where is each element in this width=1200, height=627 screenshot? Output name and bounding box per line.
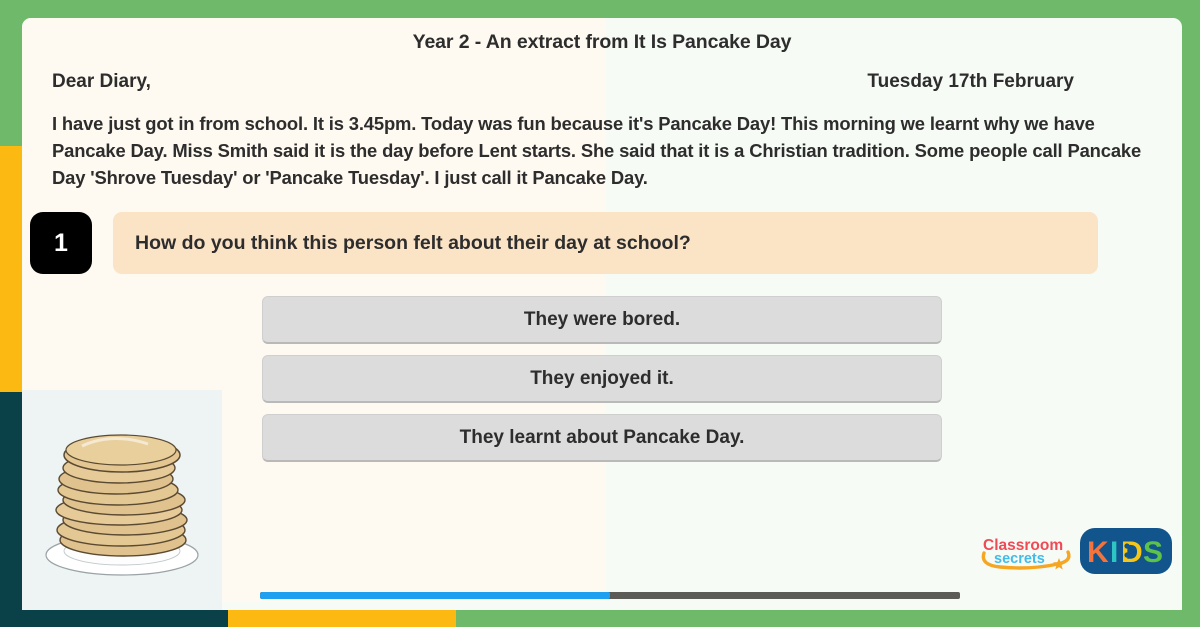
svg-text:K: K	[1087, 536, 1109, 569]
content-card: Year 2 - An extract from It Is Pancake D…	[22, 18, 1182, 610]
svg-text:secrets: secrets	[994, 551, 1045, 567]
lesson-slide: Year 2 - An extract from It Is Pancake D…	[0, 0, 1200, 627]
brand-logo: Classroom secrets K I D S	[976, 528, 1172, 574]
frame-edge-left-yellow	[0, 146, 22, 392]
svg-text:D: D	[1121, 536, 1143, 569]
answer-options-list: They were bored. They enjoyed it. They l…	[262, 296, 942, 462]
extract-body-text: I have just got in from school. It is 3.…	[22, 93, 1182, 191]
svg-text:I: I	[1110, 536, 1118, 569]
answer-option-1[interactable]: They were bored.	[262, 296, 942, 344]
svg-text:S: S	[1143, 536, 1163, 569]
frame-edge-left-green	[0, 0, 22, 146]
diary-salutation: Dear Diary,	[52, 71, 151, 93]
answer-option-3[interactable]: They learnt about Pancake Day.	[262, 414, 942, 462]
kids-logo-icon: K I D S	[1080, 528, 1172, 574]
progress-bar-track[interactable]	[260, 592, 960, 599]
answer-option-2[interactable]: They enjoyed it.	[262, 355, 942, 403]
frame-edge-left-teal	[0, 392, 22, 627]
diary-date: Tuesday 17th February	[867, 71, 1152, 93]
question-text: How do you think this person felt about …	[113, 212, 1098, 274]
diary-heading-row: Dear Diary, Tuesday 17th February	[22, 54, 1182, 93]
question-number-badge: 1	[30, 212, 92, 274]
progress-bar-fill	[260, 592, 610, 599]
pancake-illustration	[22, 390, 222, 610]
classroom-secrets-logo-icon: Classroom secrets	[976, 531, 1072, 571]
page-title: Year 2 - An extract from It Is Pancake D…	[22, 18, 1182, 54]
question-row: 1 How do you think this person felt abou…	[22, 191, 1182, 274]
